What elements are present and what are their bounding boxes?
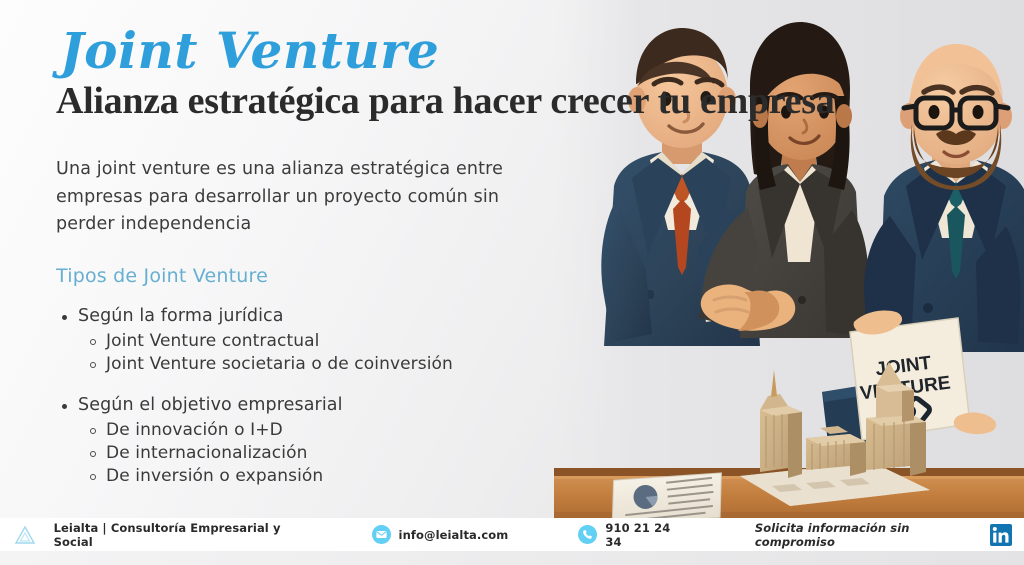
content-column: Joint Venture Alianza estratégica para h… <box>56 26 586 507</box>
title-script: Joint Venture <box>60 26 586 76</box>
envelope-icon <box>372 525 391 544</box>
phone-icon <box>578 525 597 544</box>
list-item: Según la forma jurídica <box>56 305 586 328</box>
slide-canvas: JOINT VENTURE <box>0 0 1024 565</box>
list-group: Según el objetivo empresarial De innovac… <box>56 394 586 488</box>
leialta-triangle-logo <box>14 525 40 545</box>
footer-phone-item[interactable]: 910 21 24 34 <box>578 521 688 549</box>
list-item: Joint Venture societaria o de coinversió… <box>56 353 586 376</box>
footer-cta-text: Solicita información sin compromiso <box>755 521 990 549</box>
page-title: Alianza estratégica para hacer crecer tu… <box>56 82 586 122</box>
list-item: De inversión o expansión <box>56 465 586 488</box>
linkedin-icon[interactable] <box>990 524 1012 546</box>
footer-email-item[interactable]: info@leialta.com <box>372 525 509 544</box>
list-item: Joint Venture contractual <box>56 330 586 353</box>
footer-email-text[interactable]: info@leialta.com <box>399 528 509 542</box>
illustration-3d-business-scene: JOINT VENTURE <box>554 0 1024 525</box>
footer-phone-text[interactable]: 910 21 24 34 <box>605 521 688 549</box>
section-subheading: Tipos de Joint Venture <box>56 265 586 287</box>
list-item: De innovación o I+D <box>56 419 586 442</box>
list-group: Según la forma jurídica Joint Venture co… <box>56 305 586 376</box>
list-item: De internacionalización <box>56 442 586 465</box>
footer-bottom-strip <box>0 551 1024 565</box>
list-item: Según el objetivo empresarial <box>56 394 586 417</box>
footer-brand: Leialta | Consultoría Empresarial y Soci… <box>54 521 320 549</box>
sublist: De innovación o I+D De internacionalizac… <box>56 419 586 488</box>
intro-paragraph: Una joint venture es una alianza estraté… <box>56 156 556 239</box>
sublist: Joint Venture contractual Joint Venture … <box>56 330 586 376</box>
types-list: Según la forma jurídica Joint Venture co… <box>56 305 586 489</box>
footer-bar: Leialta | Consultoría Empresarial y Soci… <box>0 518 1024 551</box>
